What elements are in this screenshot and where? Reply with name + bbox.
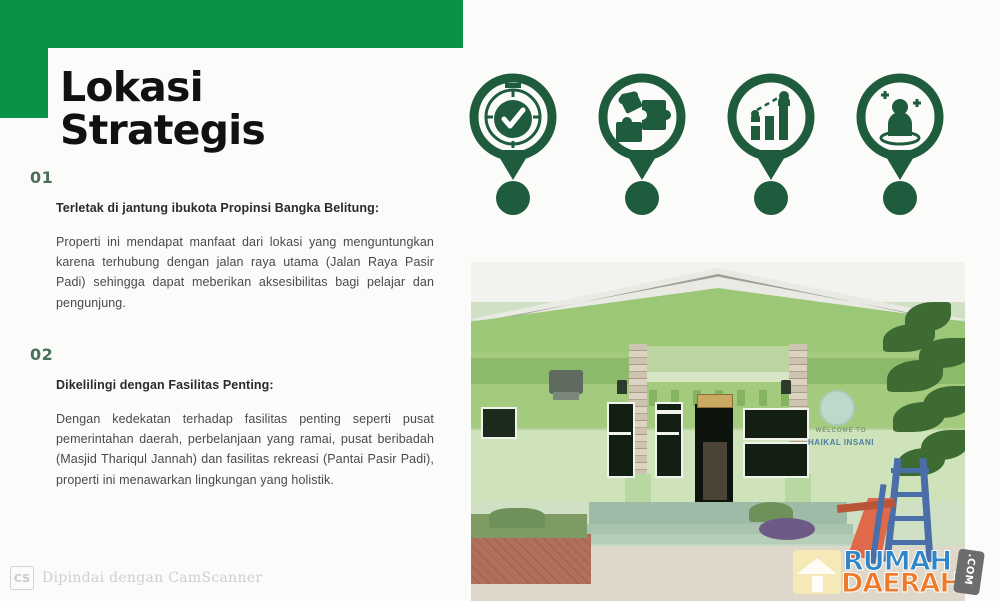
section-02-heading: Dikelilingi dengan Fasilitas Penting: xyxy=(56,376,434,395)
camscanner-badge: CS xyxy=(10,566,34,590)
watermark-tag-text: .COM xyxy=(961,553,977,594)
section-01: 01 Terletak di jantung ibukota Propinsi … xyxy=(30,168,434,313)
pin-dot xyxy=(754,181,788,215)
icon-pin-row xyxy=(455,70,955,220)
pin-growth-chart xyxy=(721,70,821,215)
page-title: Lokasi Strategis xyxy=(60,66,440,153)
pin-dot xyxy=(625,181,659,215)
watermark-line-2: DAERAH xyxy=(841,568,961,599)
welcome-sign-line1: WELCOME TO xyxy=(801,428,881,434)
section-02: 02 Dikelilingi dengan Fasilitas Penting:… xyxy=(30,345,434,490)
house-icon xyxy=(793,550,841,594)
title-line-2: Strategis xyxy=(60,109,440,152)
welcome-sign-line2: HAIKAL INSANI xyxy=(799,438,883,447)
pin-person-sparkle xyxy=(850,70,950,215)
pin-dot xyxy=(496,181,530,215)
pin-puzzle xyxy=(592,70,692,215)
rumahdaerah-watermark: RUMAH DAERAH .COM xyxy=(793,546,993,598)
section-01-number: 01 xyxy=(30,168,434,187)
camscanner-footer: CS Dipindai dengan CamScanner xyxy=(10,566,262,590)
pin-dot xyxy=(883,181,917,215)
pin-stopwatch xyxy=(463,70,563,215)
section-01-heading: Terletak di jantung ibukota Propinsi Ban… xyxy=(56,199,434,218)
green-left-column xyxy=(0,48,48,118)
camscanner-text: Dipindai dengan CamScanner xyxy=(42,570,262,586)
green-header-band xyxy=(0,0,463,48)
section-02-number: 02 xyxy=(30,345,434,364)
haikal-insani-logo xyxy=(819,390,855,426)
slide-canvas: Lokasi Strategis 01 Terletak di jantung … xyxy=(0,0,1000,601)
watermark-tag: .COM xyxy=(953,548,985,595)
section-01-body: Properti ini mendapat manfaat dari lokas… xyxy=(56,232,434,313)
section-02-body: Dengan kedekatan terhadap fasilitas pent… xyxy=(56,409,434,490)
title-line-1: Lokasi xyxy=(60,63,203,111)
